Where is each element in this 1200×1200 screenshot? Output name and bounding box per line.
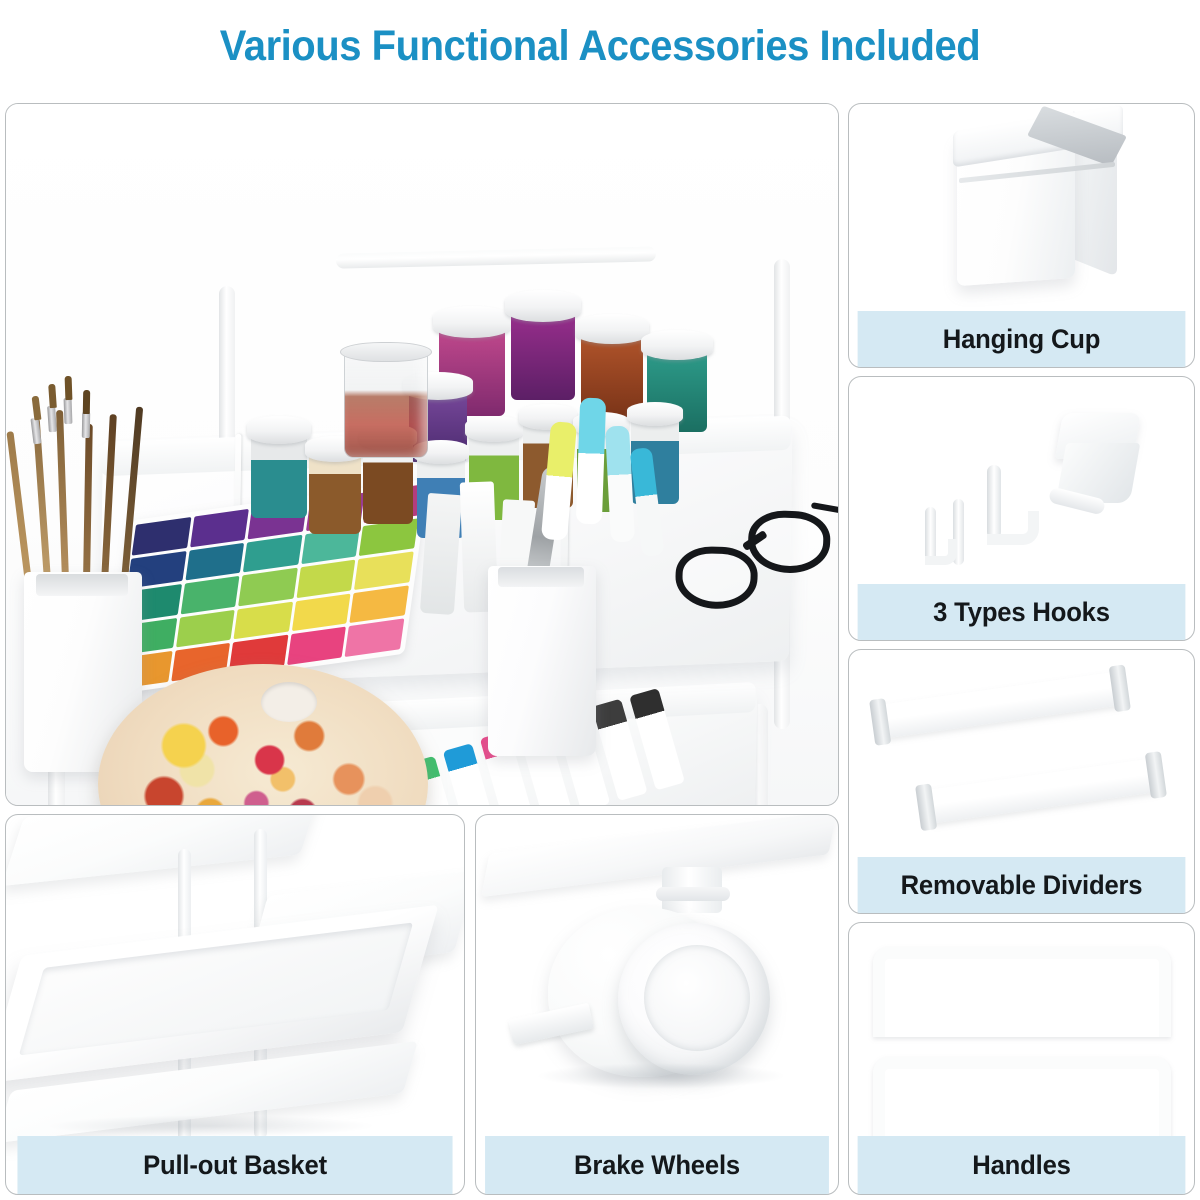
hooks-icon — [909, 407, 1159, 587]
paint-palette-thumb-hole — [261, 682, 317, 722]
caster-stem-ring — [656, 887, 730, 901]
card-handles: Handles — [848, 922, 1195, 1195]
brush-bristle — [83, 390, 90, 414]
page-title: Various Functional Accessories Included — [42, 22, 1158, 71]
eyeglass-temple — [811, 502, 838, 516]
divider-bar-top — [869, 664, 1133, 746]
eyeglasses — [661, 496, 838, 625]
basket-floor-shadow — [46, 1115, 376, 1137]
jar-cap — [575, 314, 649, 344]
tool-handle — [541, 421, 577, 541]
divider-bar-bottom — [915, 751, 1169, 831]
paint-tube — [420, 493, 462, 615]
cart-base-plate — [481, 815, 837, 897]
card-hooks: 3 Types Hooks — [848, 376, 1195, 641]
eyeglass-lens-left — [674, 545, 758, 610]
card-wheels: Brake Wheels — [475, 814, 839, 1195]
hanging-cup-middle — [488, 566, 596, 756]
caption-dividers: Removable Dividers — [858, 857, 1186, 913]
wheel-floor-shadow — [536, 1063, 786, 1089]
brush-ferrule — [64, 398, 73, 424]
jar-cap — [641, 330, 713, 360]
hanging-cup-middle-rim — [498, 567, 584, 587]
handle-lower — [873, 1057, 1171, 1147]
caption-basket: Pull-out Basket — [17, 1136, 452, 1194]
caption-hooks: 3 Types Hooks — [858, 584, 1186, 640]
caption-hanging-cup: Hanging Cup — [858, 311, 1186, 367]
glass-jar — [344, 348, 428, 458]
tool-handle — [630, 447, 665, 557]
card-basket: Pull-out Basket — [5, 814, 465, 1195]
tool-handle — [576, 398, 606, 525]
bottle-cap — [465, 416, 523, 442]
basket-back-shelf — [6, 815, 322, 886]
handle-upper — [873, 947, 1171, 1037]
card-hanging-cup: Hanging Cup — [848, 103, 1195, 368]
brush-ferrule — [82, 412, 90, 438]
card-dividers: Removable Dividers — [848, 649, 1195, 914]
jar-cap — [505, 290, 581, 322]
caster-hub — [644, 945, 750, 1051]
hook-medium-curve — [987, 511, 1039, 545]
hanging-cup-left-rim — [36, 574, 128, 596]
jar-cap — [433, 306, 511, 338]
glass-jar-rim — [340, 342, 432, 362]
brush-bristle — [65, 376, 73, 400]
tool-handle — [605, 425, 635, 542]
hook-small-curve — [925, 539, 957, 565]
caption-handles: Handles — [858, 1136, 1186, 1194]
brush-ferrule — [47, 406, 57, 432]
card-hero-cart — [5, 103, 839, 806]
caption-wheels: Brake Wheels — [485, 1136, 829, 1194]
bottle-cap — [247, 416, 311, 444]
hero-photo — [6, 104, 838, 805]
